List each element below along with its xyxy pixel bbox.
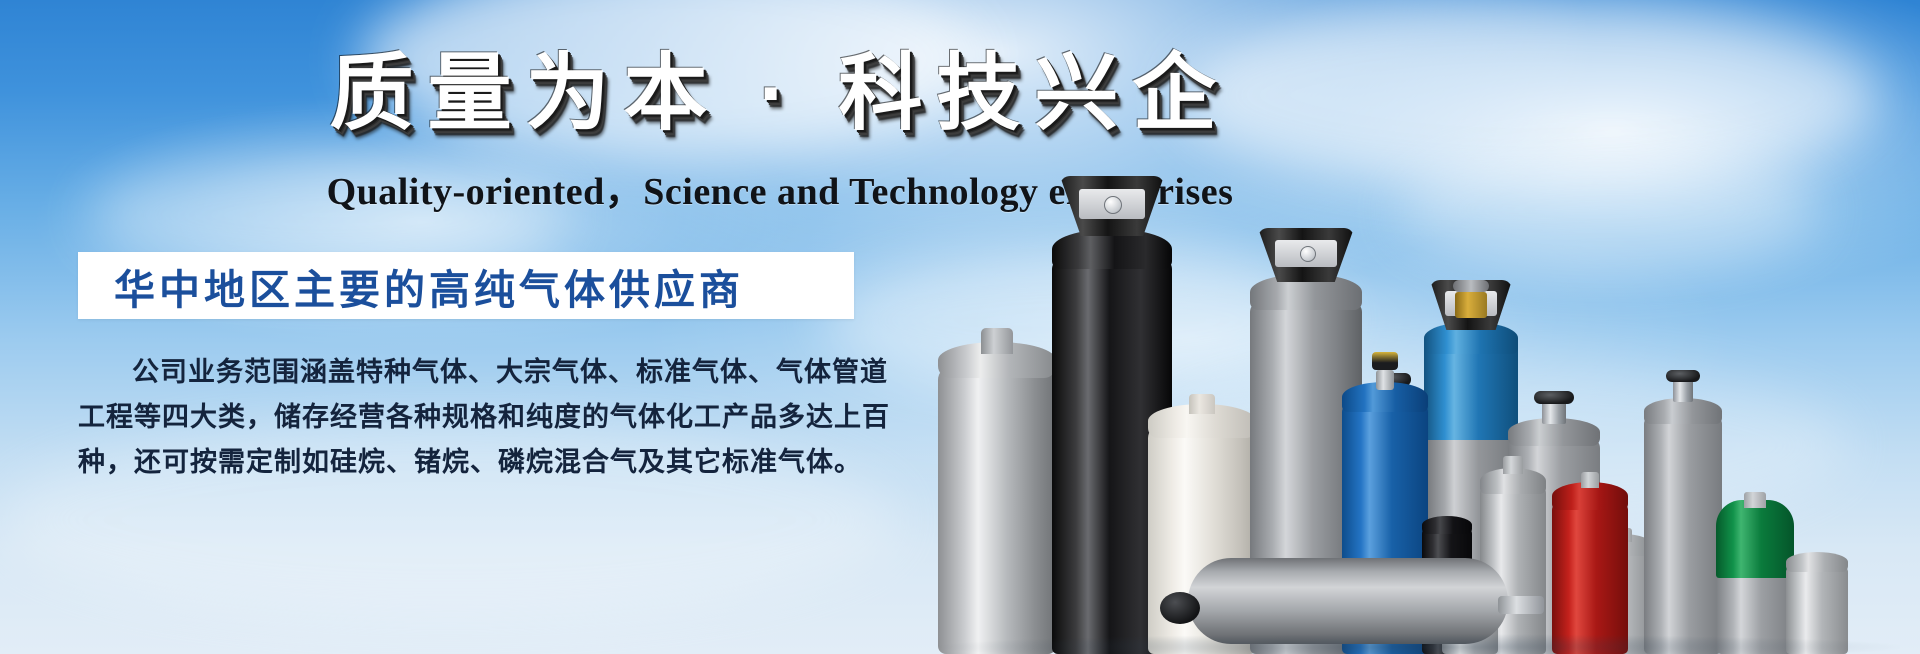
description-line-2: 工程等四大类，储存经营各种规格和纯度的气体化工产品多达上百 [78, 395, 868, 440]
cylinder-grey-tall-left [938, 324, 1056, 654]
pressure-gauge-icon [1104, 196, 1122, 214]
description-line-1: 公司业务范围涵盖特种气体、大宗气体、标准气体、气体管道 [78, 350, 868, 395]
tank-valve-right [1498, 596, 1544, 614]
callout-box: 华中地区主要的高纯气体供应商 [78, 252, 854, 319]
promo-banner: 质量为本 · 科技兴企 Quality-oriented，Science and… [0, 0, 1920, 654]
pressure-gauge-icon [1300, 246, 1316, 262]
gas-cylinder-group-right [1330, 0, 1920, 654]
valve-knob [1372, 352, 1398, 370]
ground-shadow [940, 634, 1900, 654]
callout-text: 华中地区主要的高纯气体供应商 [78, 256, 744, 316]
banner-description: 公司业务范围涵盖特种气体、大宗气体、标准气体、气体管道 工程等四大类，储存经营各… [78, 350, 868, 485]
tank-valve-left [1160, 592, 1200, 624]
cylinder-grey-horizontal-tank [1188, 558, 1508, 644]
cylinder-red-right [1552, 470, 1628, 654]
description-line-3: 种，还可按需定制如硅烷、锗烷、磷烷混合气及其它标准气体。 [78, 440, 868, 485]
